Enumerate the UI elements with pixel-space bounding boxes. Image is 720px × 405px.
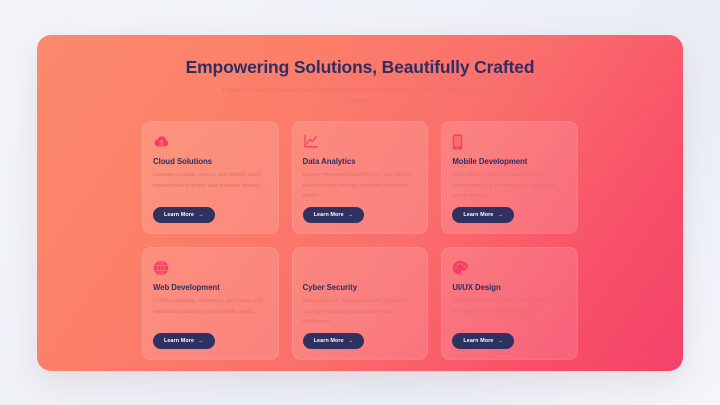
line-chart-icon xyxy=(303,133,418,150)
service-card-mobile-development[interactable]: Mobile Development Craft intuitive, high… xyxy=(441,121,578,234)
arrow-right-icon: → xyxy=(198,339,204,345)
cloud-upload-icon xyxy=(153,133,268,150)
learn-more-label: Learn More xyxy=(314,212,344,218)
card-description: Craft intuitive, high-performance mobile… xyxy=(452,170,567,207)
card-description: Uncover meaningful insights from your da… xyxy=(303,170,418,207)
service-card-ui-ux-design[interactable]: UI/UX Design Crafting intuitive, engagin… xyxy=(441,247,578,360)
mobile-phone-icon xyxy=(452,133,567,150)
palette-icon xyxy=(452,259,567,276)
arrow-right-icon: → xyxy=(348,213,354,219)
card-title: Mobile Development xyxy=(452,157,567,166)
page-title: Empowering Solutions, Beautifully Crafte… xyxy=(45,57,675,78)
learn-more-label: Learn More xyxy=(463,338,493,344)
arrow-right-icon: → xyxy=(497,339,503,345)
card-title: Cyber Security xyxy=(303,283,418,292)
service-card-web-development[interactable]: Web Development Crafting engaging, respo… xyxy=(142,247,279,360)
learn-more-button[interactable]: Learn More → xyxy=(303,207,365,223)
learn-more-button[interactable]: Learn More → xyxy=(153,207,215,223)
hero-section: Empowering Solutions, Beautifully Crafte… xyxy=(45,57,675,108)
card-description: Leverage scalable, secure, and resilient… xyxy=(153,170,268,207)
arrow-right-icon: → xyxy=(497,213,503,219)
page-subtitle: Explore our comprehensive suite of servi… xyxy=(210,85,510,108)
service-card-cyber-security[interactable]: Cyber Security Safeguard your digital as… xyxy=(292,247,429,360)
learn-more-label: Learn More xyxy=(314,338,344,344)
services-grid: Cloud Solutions Leverage scalable, secur… xyxy=(142,121,578,360)
card-title: Data Analytics xyxy=(303,157,418,166)
card-title: Web Development xyxy=(153,283,268,292)
globe-icon xyxy=(153,259,268,276)
learn-more-label: Learn More xyxy=(463,212,493,218)
missing-icon xyxy=(303,259,418,276)
service-card-data-analytics[interactable]: Data Analytics Uncover meaningful insigh… xyxy=(292,121,429,234)
hero-panel: Empowering Solutions, Beautifully Crafte… xyxy=(37,35,683,371)
card-description: Safeguard your digital assets with advan… xyxy=(303,296,418,333)
learn-more-button[interactable]: Learn More → xyxy=(452,333,514,349)
learn-more-button[interactable]: Learn More → xyxy=(303,333,365,349)
learn-more-label: Learn More xyxy=(164,212,194,218)
card-description: Crafting intuitive, engaging, and aesthe… xyxy=(452,296,567,333)
learn-more-label: Learn More xyxy=(164,338,194,344)
arrow-right-icon: → xyxy=(198,213,204,219)
card-title: Cloud Solutions xyxy=(153,157,268,166)
learn-more-button[interactable]: Learn More → xyxy=(452,207,514,223)
card-description: Crafting engaging, responsive, and robus… xyxy=(153,296,268,333)
service-card-cloud-solutions[interactable]: Cloud Solutions Leverage scalable, secur… xyxy=(142,121,279,234)
card-title: UI/UX Design xyxy=(452,283,567,292)
learn-more-button[interactable]: Learn More → xyxy=(153,333,215,349)
arrow-right-icon: → xyxy=(348,339,354,345)
